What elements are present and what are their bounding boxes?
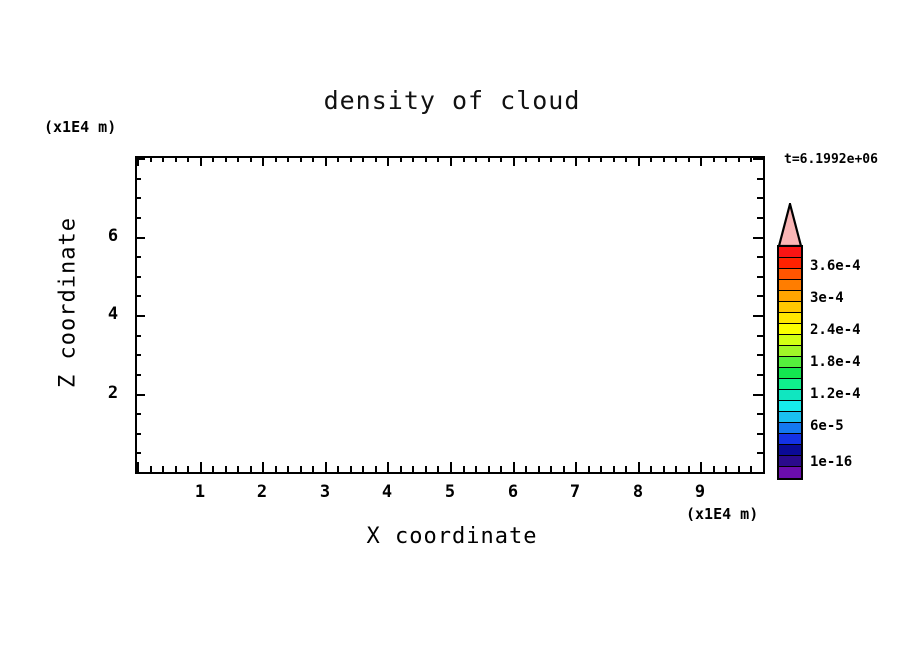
x-minor-tick-top xyxy=(675,156,677,162)
x-minor-tick-top xyxy=(162,156,164,162)
x-minor-tick-top xyxy=(287,156,289,162)
x-minor-tick xyxy=(400,466,402,472)
colorbar-band xyxy=(779,456,801,467)
colorbar-band xyxy=(779,379,801,390)
x-major-tick-top xyxy=(513,156,515,166)
x-major-tick xyxy=(513,462,515,472)
x-minor-tick xyxy=(725,466,727,472)
x-minor-tick xyxy=(150,466,152,472)
x-minor-tick-top xyxy=(750,156,752,162)
x-major-tick-top xyxy=(450,156,452,166)
x-minor-tick xyxy=(563,466,565,472)
x-axis-title: X coordinate xyxy=(252,524,652,549)
x-major-tick xyxy=(137,462,139,472)
y-major-tick-right xyxy=(753,315,763,317)
y-minor-tick-right xyxy=(757,197,763,199)
x-minor-tick-top xyxy=(650,156,652,162)
x-tick-label: 4 xyxy=(367,482,407,502)
time-stamp-label: t=6.1992e+06 xyxy=(784,152,878,167)
y-major-tick-right xyxy=(753,158,763,160)
plot-frame xyxy=(135,156,765,474)
x-minor-tick xyxy=(437,466,439,472)
colorbar-band xyxy=(779,280,801,291)
x-minor-tick-top xyxy=(212,156,214,162)
x-minor-tick xyxy=(500,466,502,472)
x-minor-tick-top xyxy=(400,156,402,162)
x-minor-tick xyxy=(225,466,227,472)
x-major-tick xyxy=(325,462,327,472)
colorbar-tick-label: 6e-5 xyxy=(810,418,844,434)
y-major-tick xyxy=(135,237,145,239)
colorbar-tick-label: 3e-4 xyxy=(810,290,844,306)
x-minor-tick-top xyxy=(425,156,427,162)
x-minor-tick xyxy=(375,466,377,472)
x-minor-tick xyxy=(550,466,552,472)
y-minor-tick-right xyxy=(757,276,763,278)
y-minor-tick xyxy=(135,433,141,435)
y-minor-tick-right xyxy=(757,354,763,356)
colorbar-band xyxy=(779,434,801,445)
y-minor-tick xyxy=(135,217,141,219)
y-minor-tick-right xyxy=(757,295,763,297)
x-minor-tick-top xyxy=(688,156,690,162)
x-minor-tick xyxy=(738,466,740,472)
z-axis-unit-label: (x1E4 m) xyxy=(44,118,116,136)
y-tick-label: 6 xyxy=(99,226,127,246)
x-minor-tick xyxy=(425,466,427,472)
x-minor-tick xyxy=(650,466,652,472)
y-major-tick-right xyxy=(753,237,763,239)
colorbar-band xyxy=(779,346,801,357)
colorbar-tick-label: 2.4e-4 xyxy=(810,322,861,338)
x-minor-tick xyxy=(613,466,615,472)
x-minor-tick xyxy=(412,466,414,472)
colorbar-band xyxy=(779,324,801,335)
x-minor-tick xyxy=(525,466,527,472)
x-minor-tick-top xyxy=(237,156,239,162)
colorbar-overflow-arrow xyxy=(777,203,803,247)
x-minor-tick xyxy=(538,466,540,472)
x-minor-tick xyxy=(312,466,314,472)
colorbar-band xyxy=(779,247,801,258)
x-minor-tick-top xyxy=(588,156,590,162)
x-major-tick xyxy=(387,462,389,472)
page-title: density of cloud xyxy=(0,86,904,115)
x-major-tick-top xyxy=(700,156,702,166)
x-minor-tick-top xyxy=(463,156,465,162)
x-major-tick-top xyxy=(200,156,202,166)
x-axis-unit-label: (x1E4 m) xyxy=(686,505,758,523)
x-minor-tick xyxy=(162,466,164,472)
colorbar-band xyxy=(779,401,801,412)
x-major-tick-top xyxy=(575,156,577,166)
x-minor-tick xyxy=(275,466,277,472)
x-minor-tick xyxy=(625,466,627,472)
x-minor-tick xyxy=(187,466,189,472)
x-minor-tick xyxy=(237,466,239,472)
x-tick-label: 6 xyxy=(493,482,533,502)
colorbar-band xyxy=(779,368,801,379)
x-tick-label: 9 xyxy=(680,482,720,502)
y-minor-tick xyxy=(135,452,141,454)
x-minor-tick-top xyxy=(250,156,252,162)
y-minor-tick xyxy=(135,256,141,258)
x-minor-tick xyxy=(475,466,477,472)
x-minor-tick xyxy=(675,466,677,472)
x-minor-tick-top xyxy=(437,156,439,162)
x-major-tick-top xyxy=(262,156,264,166)
y-major-tick-right xyxy=(753,472,763,474)
colorbar-tick-label: 3.6e-4 xyxy=(810,258,861,274)
x-tick-label: 2 xyxy=(242,482,282,502)
colorbar-tick-label: 1.8e-4 xyxy=(810,354,861,370)
y-minor-tick xyxy=(135,178,141,180)
y-major-tick xyxy=(135,315,145,317)
y-major-tick-right xyxy=(753,394,763,396)
x-major-tick xyxy=(763,462,765,472)
x-minor-tick xyxy=(688,466,690,472)
x-major-tick-top xyxy=(387,156,389,166)
x-minor-tick-top xyxy=(613,156,615,162)
x-major-tick-top xyxy=(638,156,640,166)
x-minor-tick-top xyxy=(225,156,227,162)
x-minor-tick-top xyxy=(175,156,177,162)
colorbar-band xyxy=(779,423,801,434)
y-minor-tick-right xyxy=(757,256,763,258)
colorbar-tick-label: 1.2e-4 xyxy=(810,386,861,402)
y-minor-tick-right xyxy=(757,413,763,415)
x-minor-tick-top xyxy=(713,156,715,162)
x-major-tick xyxy=(638,462,640,472)
x-minor-tick-top xyxy=(375,156,377,162)
x-major-tick xyxy=(262,462,264,472)
x-minor-tick xyxy=(463,466,465,472)
x-tick-label: 7 xyxy=(555,482,595,502)
x-minor-tick xyxy=(212,466,214,472)
x-major-tick-top xyxy=(763,156,765,166)
x-minor-tick-top xyxy=(600,156,602,162)
colorbar-band xyxy=(779,412,801,423)
x-minor-tick-top xyxy=(725,156,727,162)
y-minor-tick xyxy=(135,295,141,297)
x-minor-tick xyxy=(350,466,352,472)
x-minor-tick-top xyxy=(563,156,565,162)
x-minor-tick xyxy=(588,466,590,472)
x-major-tick xyxy=(450,462,452,472)
x-minor-tick xyxy=(175,466,177,472)
x-tick-label: 5 xyxy=(430,482,470,502)
x-minor-tick-top xyxy=(500,156,502,162)
y-major-tick xyxy=(135,394,145,396)
x-minor-tick xyxy=(300,466,302,472)
x-minor-tick-top xyxy=(525,156,527,162)
x-minor-tick-top xyxy=(350,156,352,162)
x-minor-tick-top xyxy=(275,156,277,162)
x-minor-tick xyxy=(488,466,490,472)
colorbar-band xyxy=(779,467,801,478)
colorbar-band xyxy=(779,269,801,280)
x-minor-tick-top xyxy=(550,156,552,162)
colorbar-band xyxy=(779,335,801,346)
colorbar-band xyxy=(779,258,801,269)
x-tick-label: 3 xyxy=(305,482,345,502)
y-minor-tick-right xyxy=(757,335,763,337)
y-tick-label: 4 xyxy=(99,304,127,324)
y-major-tick xyxy=(135,472,145,474)
x-minor-tick-top xyxy=(412,156,414,162)
x-minor-tick-top xyxy=(738,156,740,162)
x-minor-tick xyxy=(713,466,715,472)
y-tick-label: 2 xyxy=(99,383,127,403)
x-minor-tick-top xyxy=(312,156,314,162)
y-minor-tick-right xyxy=(757,433,763,435)
z-axis-title: Z coordinate xyxy=(56,213,81,393)
x-minor-tick-top xyxy=(538,156,540,162)
y-minor-tick-right xyxy=(757,178,763,180)
x-major-tick xyxy=(575,462,577,472)
y-minor-tick xyxy=(135,276,141,278)
colorbar-band xyxy=(779,445,801,456)
y-minor-tick xyxy=(135,413,141,415)
y-minor-tick xyxy=(135,335,141,337)
y-minor-tick-right xyxy=(757,217,763,219)
colorbar-band xyxy=(779,357,801,368)
y-minor-tick xyxy=(135,197,141,199)
colorbar-band xyxy=(779,302,801,313)
y-minor-tick-right xyxy=(757,374,763,376)
colorbar-tick-label: 1e-16 xyxy=(810,454,852,470)
y-major-tick xyxy=(135,158,145,160)
y-minor-tick xyxy=(135,354,141,356)
colorbar-band xyxy=(779,390,801,401)
x-minor-tick-top xyxy=(475,156,477,162)
x-minor-tick xyxy=(750,466,752,472)
x-major-tick xyxy=(700,462,702,472)
x-minor-tick xyxy=(287,466,289,472)
y-minor-tick xyxy=(135,374,141,376)
x-minor-tick-top xyxy=(337,156,339,162)
x-tick-label: 8 xyxy=(618,482,658,502)
x-major-tick-top xyxy=(325,156,327,166)
x-minor-tick xyxy=(663,466,665,472)
x-minor-tick-top xyxy=(488,156,490,162)
x-minor-tick xyxy=(362,466,364,472)
x-minor-tick xyxy=(600,466,602,472)
x-minor-tick-top xyxy=(150,156,152,162)
x-minor-tick-top xyxy=(663,156,665,162)
colorbar-band xyxy=(779,313,801,324)
x-major-tick xyxy=(200,462,202,472)
y-minor-tick-right xyxy=(757,452,763,454)
x-minor-tick-top xyxy=(187,156,189,162)
colorbar-band xyxy=(779,291,801,302)
x-minor-tick xyxy=(337,466,339,472)
x-minor-tick-top xyxy=(300,156,302,162)
x-minor-tick-top xyxy=(625,156,627,162)
x-minor-tick xyxy=(250,466,252,472)
colorbar xyxy=(777,245,803,480)
x-tick-label: 1 xyxy=(180,482,220,502)
x-minor-tick-top xyxy=(362,156,364,162)
